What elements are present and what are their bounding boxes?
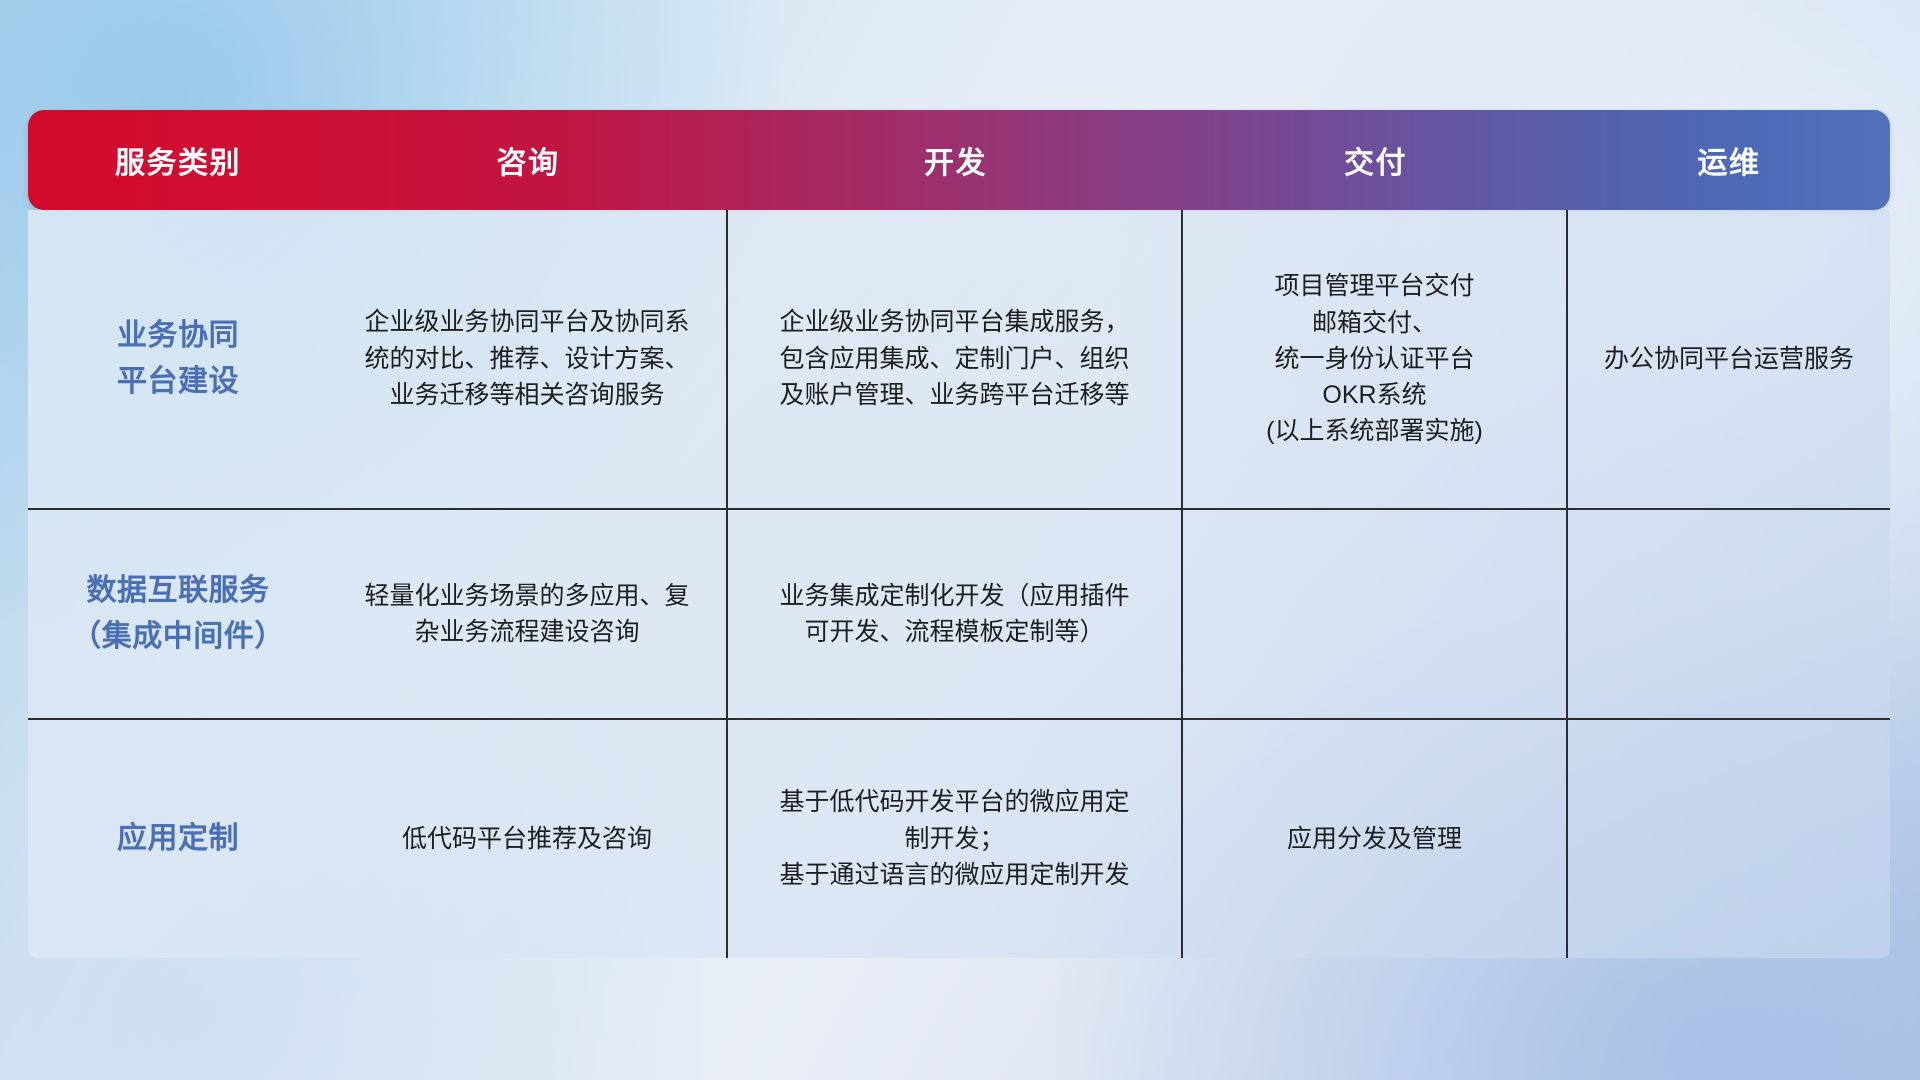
cell-development: 业务集成定制化开发（应用插件 可开发、流程模板定制等） — [728, 510, 1183, 718]
table-header-row: 服务类别 咨询 开发 交付 运维 — [28, 110, 1890, 210]
cell-operations — [1568, 720, 1890, 958]
row-label-text: 应用定制 — [117, 816, 239, 863]
row-label-text: 业务协同 平台建设 — [117, 313, 239, 406]
row-label-cell: 数据互联服务 （集成中间件） — [28, 510, 328, 718]
cell-text: 办公协同平台运营服务 — [1604, 341, 1854, 377]
cell-text: 业务集成定制化开发（应用插件 可开发、流程模板定制等） — [779, 578, 1129, 651]
cell-development: 基于低代码开发平台的微应用定 制开发； 基于通过语言的微应用定制开发 — [728, 720, 1183, 958]
cell-delivery — [1183, 510, 1568, 718]
cell-text: 应用分发及管理 — [1287, 821, 1462, 857]
column-header-consulting: 咨询 — [328, 138, 728, 182]
cell-consulting: 企业级业务协同平台及协同系 统的对比、推荐、设计方案、 业务迁移等相关咨询服务 — [328, 210, 728, 508]
column-header-operations: 运维 — [1568, 138, 1890, 182]
table-row: 数据互联服务 （集成中间件） 轻量化业务场景的多应用、复 杂业务流程建设咨询 业… — [28, 510, 1890, 720]
cell-delivery: 项目管理平台交付 邮箱交付、 统一身份认证平台 OKR系统 (以上系统部署实施) — [1183, 210, 1568, 508]
column-header-delivery: 交付 — [1183, 138, 1568, 182]
cell-operations — [1568, 510, 1890, 718]
cell-development: 企业级业务协同平台集成服务， 包含应用集成、定制门户、组织 及账户管理、业务跨平… — [728, 210, 1183, 508]
cell-text: 项目管理平台交付 邮箱交付、 统一身份认证平台 OKR系统 (以上系统部署实施) — [1266, 268, 1483, 449]
cell-consulting: 低代码平台推荐及咨询 — [328, 720, 728, 958]
cell-consulting: 轻量化业务场景的多应用、复 杂业务流程建设咨询 — [328, 510, 728, 718]
cell-operations: 办公协同平台运营服务 — [1568, 210, 1890, 508]
table-row: 应用定制 低代码平台推荐及咨询 基于低代码开发平台的微应用定 制开发； 基于通过… — [28, 720, 1890, 958]
row-label-text: 数据互联服务 （集成中间件） — [71, 568, 285, 661]
row-label-cell: 应用定制 — [28, 720, 328, 958]
cell-text: 基于低代码开发平台的微应用定 制开发； 基于通过语言的微应用定制开发 — [779, 784, 1129, 894]
column-header-development: 开发 — [728, 138, 1183, 182]
cell-text: 企业级业务协同平台及协同系 统的对比、推荐、设计方案、 业务迁移等相关咨询服务 — [364, 304, 689, 414]
cell-text: 企业级业务协同平台集成服务， 包含应用集成、定制门户、组织 及账户管理、业务跨平… — [779, 304, 1129, 414]
cell-text: 低代码平台推荐及咨询 — [402, 821, 652, 857]
table-row: 业务协同 平台建设 企业级业务协同平台及协同系 统的对比、推荐、设计方案、 业务… — [28, 210, 1890, 510]
column-header-service-category: 服务类别 — [28, 138, 328, 182]
table-body: 业务协同 平台建设 企业级业务协同平台及协同系 统的对比、推荐、设计方案、 业务… — [28, 210, 1890, 958]
cell-delivery: 应用分发及管理 — [1183, 720, 1568, 958]
row-label-cell: 业务协同 平台建设 — [28, 210, 328, 508]
services-matrix-table: 服务类别 咨询 开发 交付 运维 业务协同 平台建设 企业级业务协同平台及协同系… — [28, 110, 1890, 958]
cell-text: 轻量化业务场景的多应用、复 杂业务流程建设咨询 — [364, 578, 689, 651]
